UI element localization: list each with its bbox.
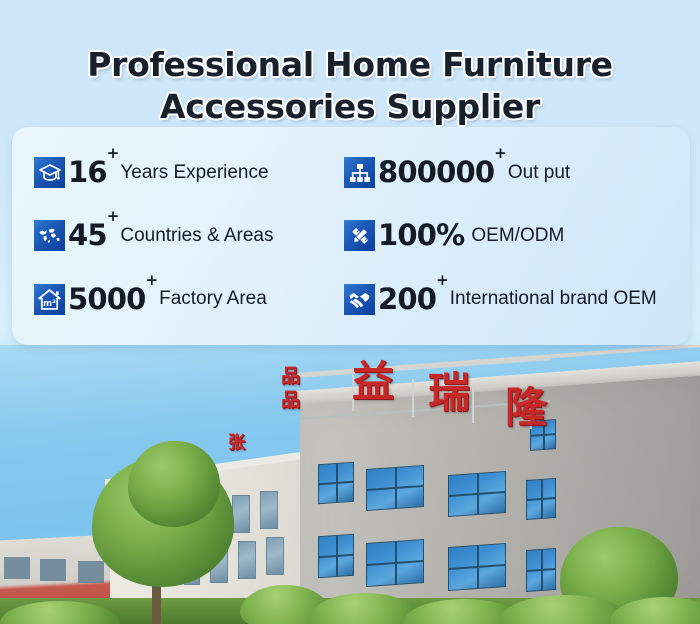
headline-line-1: Professional Home Furniture	[87, 45, 613, 84]
stat-number: 45	[68, 221, 107, 250]
window	[366, 539, 424, 587]
stat-oem-odm: 100% OEM/ODM	[344, 204, 690, 267]
graduation-cap-icon	[34, 157, 65, 188]
stat-label: Factory Area	[159, 288, 267, 310]
stat-countries-areas: 45 + Countries & Areas	[34, 204, 344, 267]
stat-label: Out put	[508, 162, 570, 184]
window	[526, 548, 556, 592]
ruler-pencil-icon	[344, 220, 375, 251]
stat-plus: +	[107, 209, 120, 224]
side-sign-char-3: 张	[228, 435, 245, 452]
stat-factory-area: m² 5000 + Factory Area	[34, 268, 344, 331]
stat-years-experience: 16 + Years Experience	[34, 141, 344, 204]
org-chart-icon	[344, 157, 375, 188]
window	[40, 559, 66, 581]
window	[318, 534, 354, 579]
side-sign-char-2: 品	[281, 391, 300, 410]
window	[78, 561, 104, 583]
stat-number: 800000	[378, 158, 494, 187]
window	[238, 541, 256, 579]
factory-photo: 益 瑞 隆 品 品 张 品 品	[0, 345, 700, 624]
page-title: Professional Home Furniture Accessories …	[0, 44, 700, 128]
stat-plus: +	[107, 146, 120, 161]
window	[4, 557, 30, 579]
stat-international-brand-oem: 200 + International brand OEM	[344, 268, 690, 331]
stat-label: Countries & Areas	[120, 225, 273, 247]
roof-sign-char-3: 隆	[505, 387, 547, 429]
sign-strut	[412, 379, 414, 417]
foreground-tree	[128, 441, 220, 527]
stat-number: 200	[378, 285, 436, 314]
stat-number: 5000	[68, 285, 146, 314]
roof-sign-char-1: 益	[352, 361, 394, 403]
stat-number: 100%	[378, 221, 464, 250]
roof-sign-char-2: 瑞	[428, 372, 470, 414]
svg-text:m²: m²	[43, 299, 56, 309]
company-profile-banner: 益 瑞 隆 品 品 张 品 品 Professional Home Furnit…	[0, 0, 700, 624]
window	[526, 478, 556, 520]
stat-number: 16	[68, 158, 107, 187]
world-map-icon	[34, 220, 65, 251]
stat-label: OEM/ODM	[471, 225, 564, 247]
stat-label: Years Experience	[120, 162, 268, 184]
stats-panel: 16 + Years Experience 800000 + Ou	[12, 127, 690, 345]
window	[266, 537, 284, 575]
sign-strut	[472, 383, 474, 423]
window	[232, 495, 250, 533]
house-area-icon: m²	[34, 284, 65, 315]
side-sign-char-1: 品	[281, 367, 300, 386]
stats-grid: 16 + Years Experience 800000 + Ou	[12, 127, 690, 345]
stat-plus: +	[494, 146, 507, 161]
stat-plus: +	[146, 273, 159, 288]
handshake-icon	[344, 284, 375, 315]
window	[318, 462, 354, 505]
stat-output: 800000 + Out put	[344, 141, 690, 204]
stat-plus: +	[436, 273, 449, 288]
headline-line-2: Accessories Supplier	[0, 86, 700, 128]
window	[366, 465, 424, 511]
window	[448, 543, 506, 591]
window	[260, 491, 278, 529]
window	[448, 471, 506, 517]
stat-label: International brand OEM	[450, 288, 657, 310]
